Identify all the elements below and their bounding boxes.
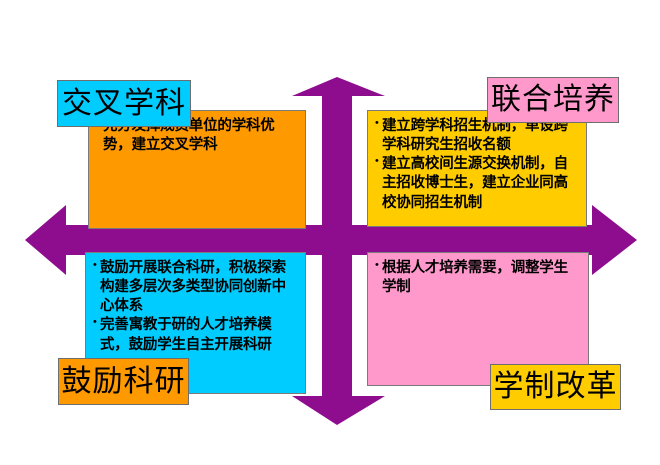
quadrant-label-interdisciplinary[interactable]: 交叉学科 — [57, 80, 191, 127]
quadrant-label-research[interactable]: 鼓励科研 — [58, 358, 189, 405]
bullet-item: 鼓励开展联合科研，积极探索构建多层次多类型协同创新中心体系 — [93, 259, 298, 316]
quadrant-label-text: 交叉学科 — [62, 89, 186, 119]
quadrant-content-joint-training: 建立跨学科招生机制，单设跨学科研究生招收名额 建立高校间生源交换机制，自主招收博… — [367, 110, 587, 227]
bullet-item: 根据人才培养需要，调整学生学制 — [375, 259, 581, 297]
bullet-item: 建立高校间生源交换机制，自主招收博士生，建立企业同高校协同招生机制 — [375, 155, 579, 212]
quadrant-label-text: 联合培养 — [491, 85, 615, 115]
quadrant-label-joint-training[interactable]: 联合培养 — [487, 77, 619, 123]
quadrant-label-system-reform[interactable]: 学制改革 — [490, 364, 621, 410]
diagram-slide: 充分发挥成员单位的学科优势，建立交叉学科 交叉学科 建立跨学科招生机制，单设跨学… — [0, 0, 660, 465]
quadrant-label-text: 学制改革 — [494, 372, 618, 402]
quadrant-label-text: 鼓励科研 — [62, 367, 186, 397]
quadrant-content-interdisciplinary: 充分发挥成员单位的学科优势，建立交叉学科 — [88, 110, 306, 229]
bullet-list-research: 鼓励开展联合科研，积极探索构建多层次多类型协同创新中心体系 完善寓教于研的人才培… — [93, 259, 298, 355]
bullet-list-system-reform: 根据人才培养需要，调整学生学制 — [375, 259, 581, 297]
bullet-list-joint-training: 建立跨学科招生机制，单设跨学科研究生招收名额 建立高校间生源交换机制，自主招收博… — [375, 117, 579, 213]
bullet-item: 完善寓教于研的人才培养模式，鼓励学生自主开展科研 — [93, 316, 298, 354]
